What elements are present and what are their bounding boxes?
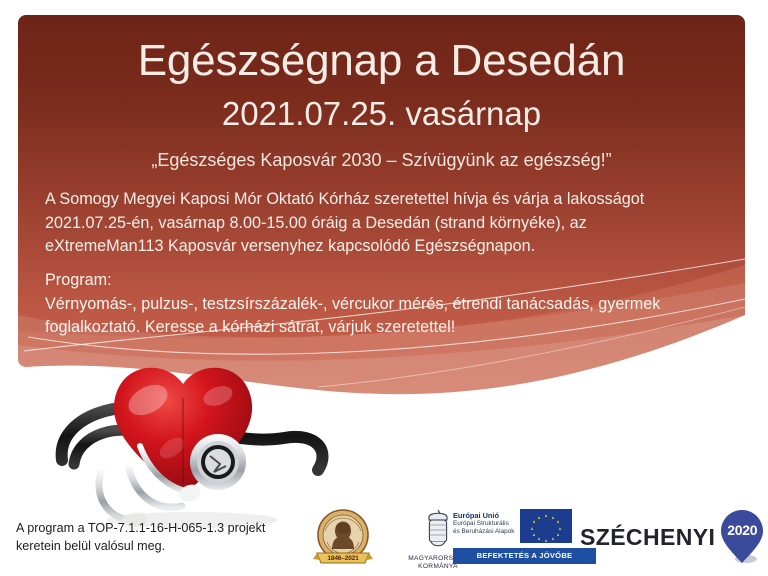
poster-program-section: Program: Vérnyomás-, pulzus-, testzsírsz… bbox=[45, 269, 735, 340]
program-line-2: foglalkoztató. Keresse a kórházi sátrat,… bbox=[45, 316, 735, 340]
body-line-1: A Somogy Megyei Kaposi Mór Oktató Kórház… bbox=[45, 188, 725, 212]
poster-slogan: „Egészséges Kaposvár 2030 – Szívügyünk a… bbox=[18, 150, 745, 171]
szechenyi-wordmark: SZÉCHENYI bbox=[580, 524, 715, 551]
funding-note-line-1: A program a TOP-7.1.1-16-H-065-1.3 proje… bbox=[16, 519, 316, 537]
eu-subtitle-line-2: és Beruházási Alapok bbox=[453, 528, 514, 536]
poster-body-text: A Somogy Megyei Kaposi Mór Oktató Kórház… bbox=[45, 188, 725, 259]
program-line-1: Vérnyomás-, pulzus-, testzsírszázalék-, … bbox=[45, 293, 735, 317]
funding-note-line-2: keretein belül valósul meg. bbox=[16, 537, 316, 555]
szechenyi-2020-logo: SZÉCHENYI 2020 bbox=[580, 509, 762, 567]
poster-date: 2021.07.25. vasárnap bbox=[18, 97, 745, 132]
heart-stethoscope-illustration bbox=[22, 352, 342, 532]
european-union-logo: Európai Unió Európai Strukturális és Ber… bbox=[453, 509, 598, 565]
body-line-2: 2021.07.25-én, vasárnap 8.00-15.00 óráig… bbox=[45, 212, 725, 236]
eu-flag-icon bbox=[520, 509, 572, 543]
project-funding-note: A program a TOP-7.1.1-16-H-065-1.3 proje… bbox=[16, 519, 316, 555]
sponsor-logo-strip: 1846–2021 MAGYARORSZÁG KORMÁNYA Európai … bbox=[305, 498, 765, 576]
heart-stethoscope-photo bbox=[22, 352, 342, 532]
eu-title: Európai Unió bbox=[453, 511, 514, 520]
program-heading: Program: bbox=[45, 269, 735, 293]
seal-anniversary-years: 1846–2021 bbox=[311, 555, 375, 562]
eu-investing-banner: BEFEKTETÉS A JÖVŐBE bbox=[453, 548, 596, 564]
eu-subtitle-line-1: Európai Strukturális bbox=[453, 520, 514, 528]
szechenyi-map-pin-icon: 2020 bbox=[719, 509, 765, 565]
hospital-anniversary-seal: 1846–2021 bbox=[311, 507, 375, 569]
szechenyi-year: 2020 bbox=[719, 522, 765, 538]
poster-title: Egészségnap a Desedán bbox=[18, 38, 745, 84]
poster-canvas: Egészségnap a Desedán 2021.07.25. vasárn… bbox=[0, 0, 768, 576]
body-line-3: eXtremeMan113 Kaposvár versenyhez kapcso… bbox=[45, 235, 725, 259]
